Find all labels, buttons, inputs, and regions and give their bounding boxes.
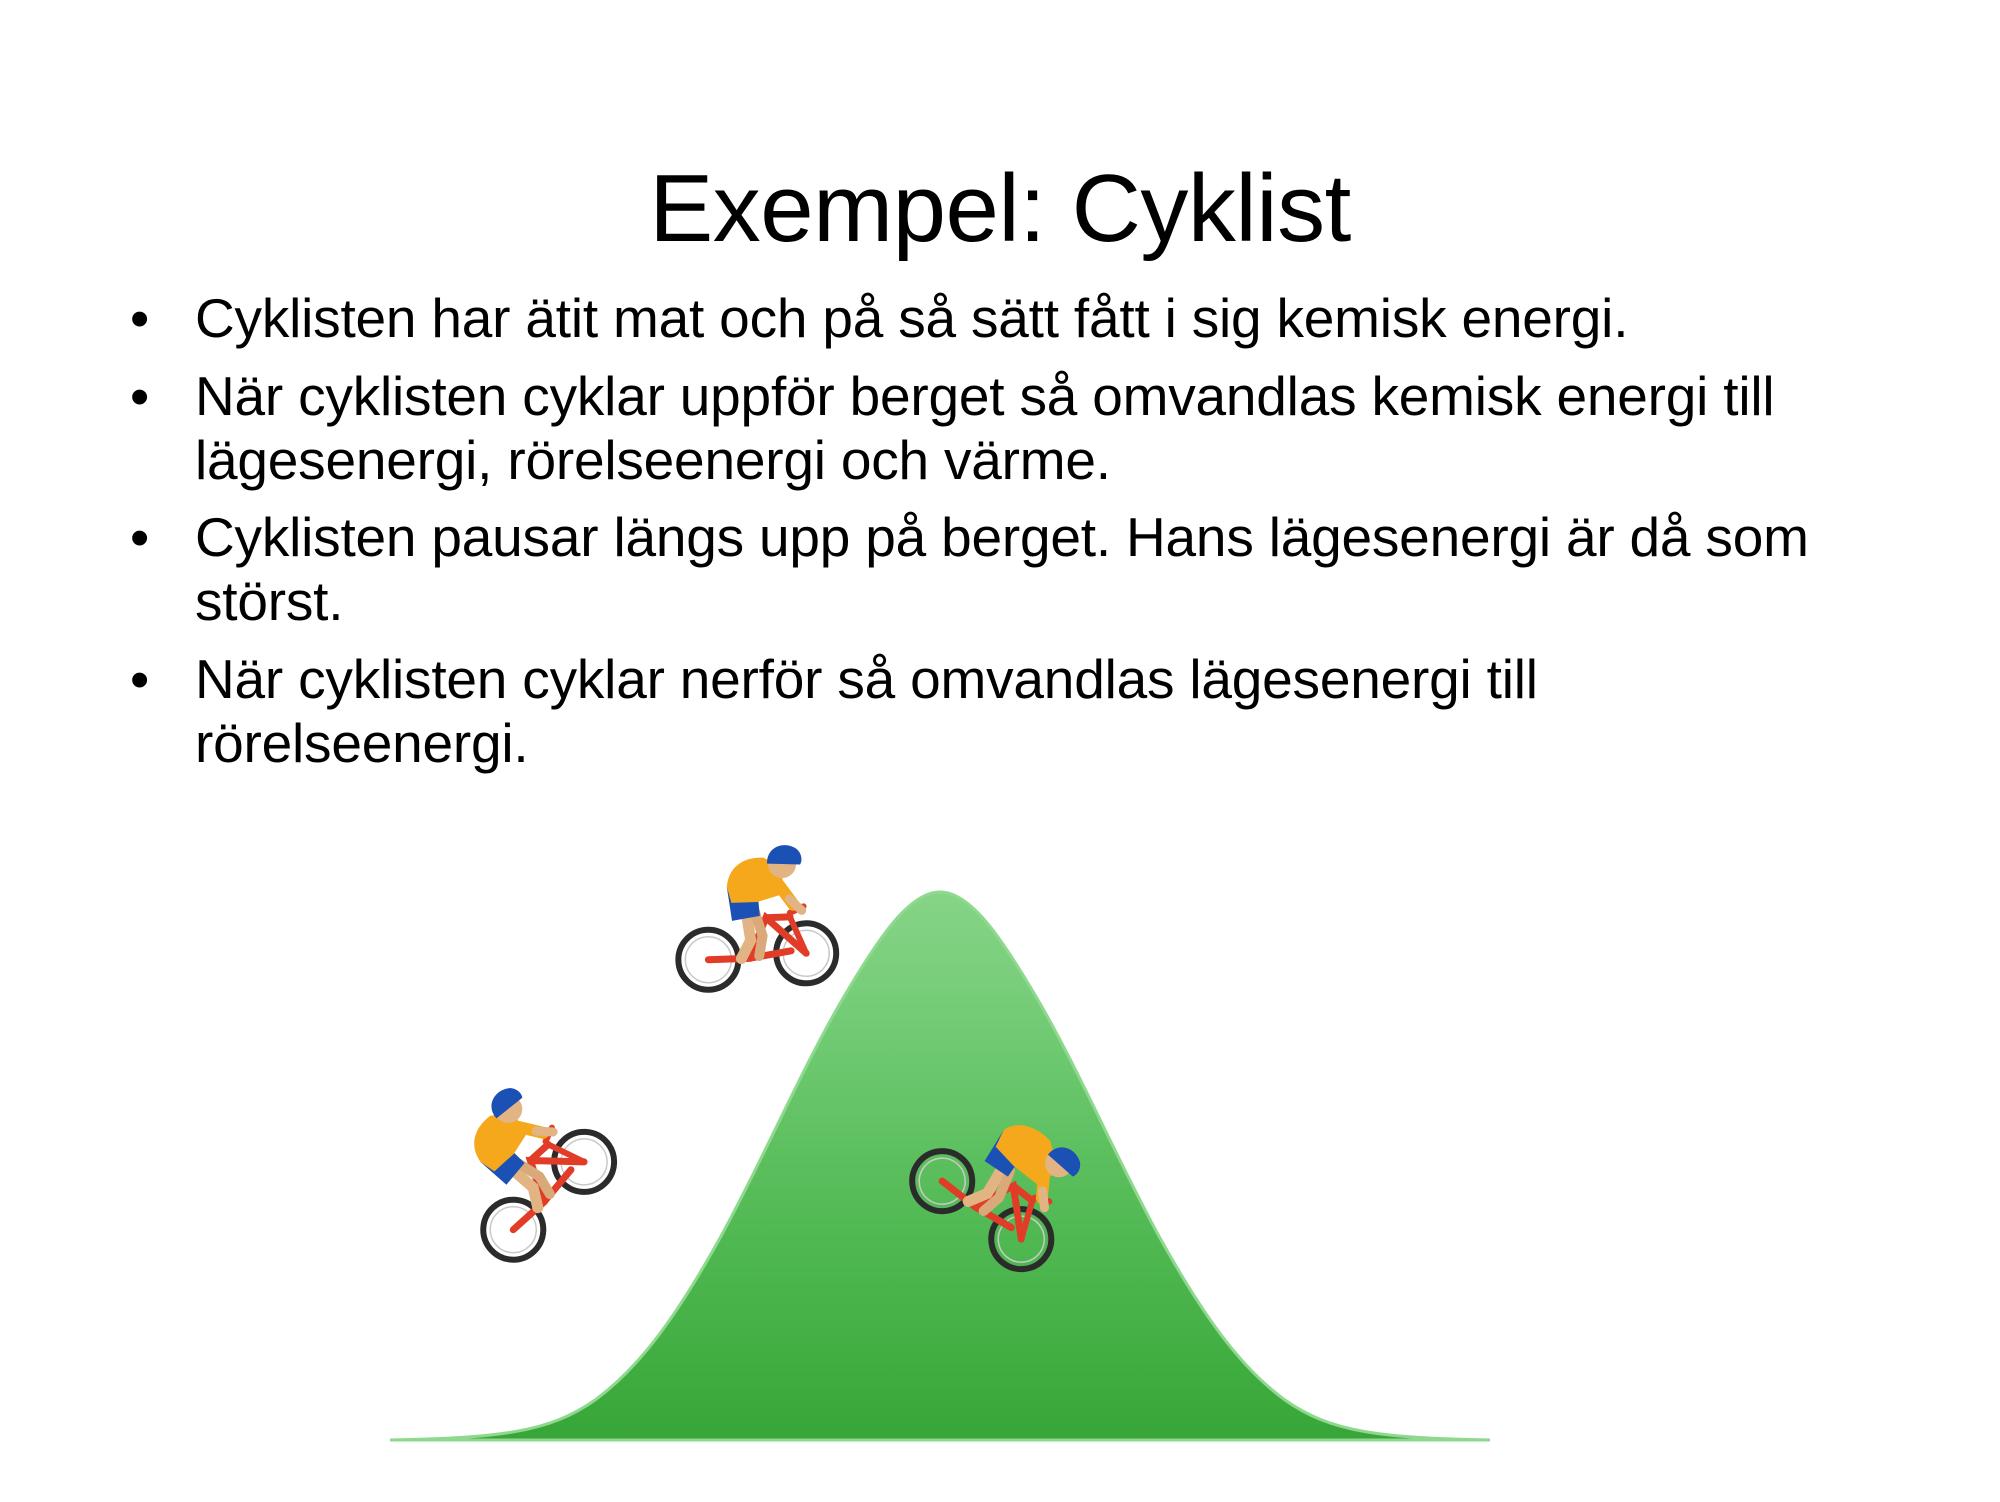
cyclist-top-icon bbox=[659, 837, 854, 1004]
bullet-marker-icon: • bbox=[130, 506, 160, 570]
bullet-marker-icon: • bbox=[130, 648, 160, 712]
cyclist-hill-illustration bbox=[380, 840, 1500, 1460]
bullet-list: • Cyklisten har ätit mat och på så sätt … bbox=[108, 287, 1908, 776]
list-item: • Cyklisten pausar längs upp på berget. … bbox=[108, 506, 1908, 634]
slide-canvas: Exempel: Cyklist • Cyklisten har ätit ma… bbox=[0, 0, 2000, 1502]
page-title: Exempel: Cyklist bbox=[0, 160, 2000, 258]
bullet-marker-icon: • bbox=[130, 287, 160, 351]
bullet-marker-icon: • bbox=[130, 365, 160, 429]
list-item-label: Cyklisten har ätit mat och på så sätt få… bbox=[195, 287, 1835, 351]
list-item: • När cyklisten cyklar uppför berget så … bbox=[108, 365, 1908, 493]
list-item-label: När cyklisten cyklar uppför berget så om… bbox=[195, 365, 1835, 493]
list-item-label: Cyklisten pausar längs upp på berget. Ha… bbox=[195, 506, 1835, 634]
list-item-label: När cyklisten cyklar nerför så omvandlas… bbox=[195, 648, 1835, 776]
list-item: • Cyklisten har ätit mat och på så sätt … bbox=[108, 287, 1908, 351]
list-item: • När cyklisten cyklar nerför så omvandl… bbox=[108, 648, 1908, 776]
